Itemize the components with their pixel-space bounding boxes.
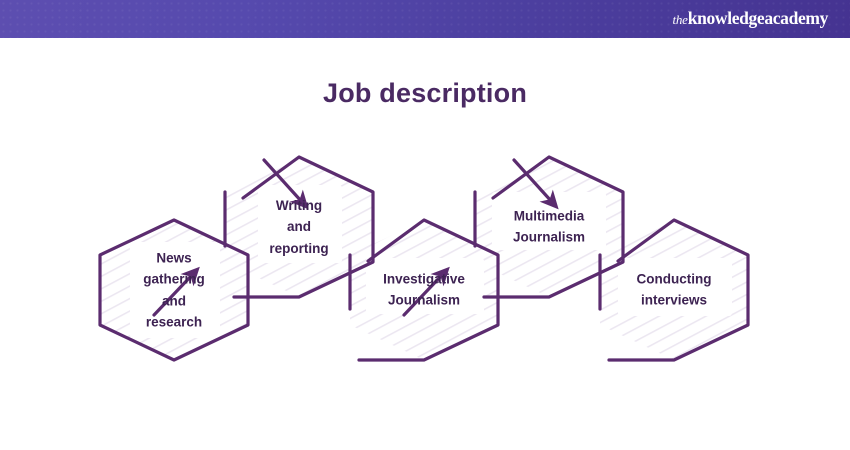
brand-logo-the: the [672,12,687,27]
hexagon-chain-svg [0,130,850,395]
brand-logo-main: knowledgeacademy [688,8,828,28]
brand-logo: theknowledgeacademy [672,10,828,28]
process-diagram: News gathering and research Writing and … [0,130,850,395]
page-title: Job description [0,78,850,109]
header-bar: theknowledgeacademy [0,0,850,38]
